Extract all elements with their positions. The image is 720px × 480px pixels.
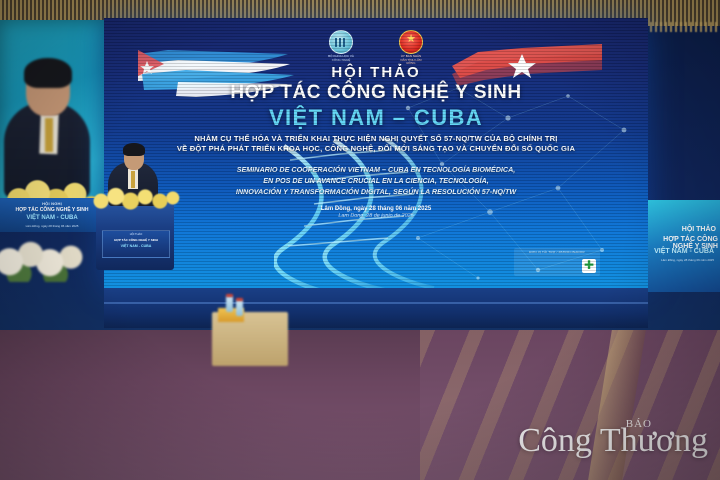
headline-title: HỢP TÁC CÔNG NGHỆ Y SINH	[104, 82, 648, 104]
national-emblem-vietnam-icon: ỦY BAN NHÂN DÂN TỈNH LÂM ĐỒNG	[398, 30, 424, 66]
podium-flower-arrangement	[90, 186, 182, 212]
spanish-line3: INNOVACIÓN Y TRANSFORMACIÓN DIGITAL, SEG…	[104, 186, 648, 197]
left-banner-kicker: HỘI NGHỊ	[0, 201, 104, 206]
left-banner-title: HỢP TÁC CÔNG NGHỆ Y SINH	[0, 207, 104, 213]
emblem-caption-left: BỘ KHOA HỌC VÀ CÔNG NGHỆ	[328, 55, 354, 62]
podium-sign-title: HỢP TÁC CÔNG NGHỆ Y SINH	[103, 238, 169, 242]
headline-countries: VIỆT NAM – CUBA	[104, 105, 648, 131]
conference-photo: HỘI NGHỊ HỢP TÁC CÔNG NGHỆ Y SINH VIỆT N…	[0, 0, 720, 480]
event-date-vietnamese: Lâm Đồng, ngày 28 tháng 06 năm 2025	[104, 206, 648, 212]
main-led-screen: BỘ KHOA HỌC VÀ CÔNG NGHỆ ỦY BAN NHÂN DÂN…	[104, 18, 648, 288]
podium-sign-kicker: HỘI THẢO	[103, 233, 169, 236]
speaker-closeup-tie	[45, 118, 53, 152]
seated-audience	[0, 250, 720, 480]
spanish-line2: EN POS DE UN AVANCE CRUCIAL EN LA CIENCI…	[104, 175, 648, 186]
headline-block: HỘI THẢO HỢP TÁC CÔNG NGHỆ Y SINH VIỆT N…	[104, 64, 648, 219]
headline-kicker: HỘI THẢO	[104, 64, 648, 81]
ministry-emblem-teal-icon: BỘ KHOA HỌC VÀ CÔNG NGHỆ	[328, 30, 354, 66]
spanish-line1: SEMINARIO DE COOPERACIÓN VIETNAM – CUBA …	[104, 164, 648, 175]
headline-subtitle-line2: VỀ ĐỘT PHÁ PHÁT TRIỂN KHOA HỌC, CÔNG NGH…	[104, 144, 648, 153]
left-banner-date: Lâm Đồng, ngày 28 tháng 06 năm 2025	[0, 224, 104, 228]
speaker-hair	[123, 143, 145, 156]
spanish-subtitle: SEMINARIO DE COOPERACIÓN VIETNAM – CUBA …	[104, 164, 648, 197]
podium-sign-countries: VIỆT NAM - CUBA	[103, 244, 169, 248]
event-date-spanish: Lam Dong, 28 de junio de 2025	[104, 213, 648, 219]
left-projection-screen: HỘI NGHỊ HỢP TÁC CÔNG NGHỆ Y SINH VIỆT N…	[0, 20, 104, 232]
right-screen-kicker: HỘI THẢO	[648, 226, 716, 233]
headline-subtitle-line1: NHẰM CỤ THỂ HÓA VÀ TRIỂN KHAI THỰC HIỆN …	[104, 134, 648, 143]
left-banner-countries: VIỆT NAM - CUBA	[0, 215, 104, 221]
left-screen-banner: HỘI NGHỊ HỢP TÁC CÔNG NGHỆ Y SINH VIỆT N…	[0, 198, 104, 232]
speaker-closeup-hair	[24, 58, 72, 88]
